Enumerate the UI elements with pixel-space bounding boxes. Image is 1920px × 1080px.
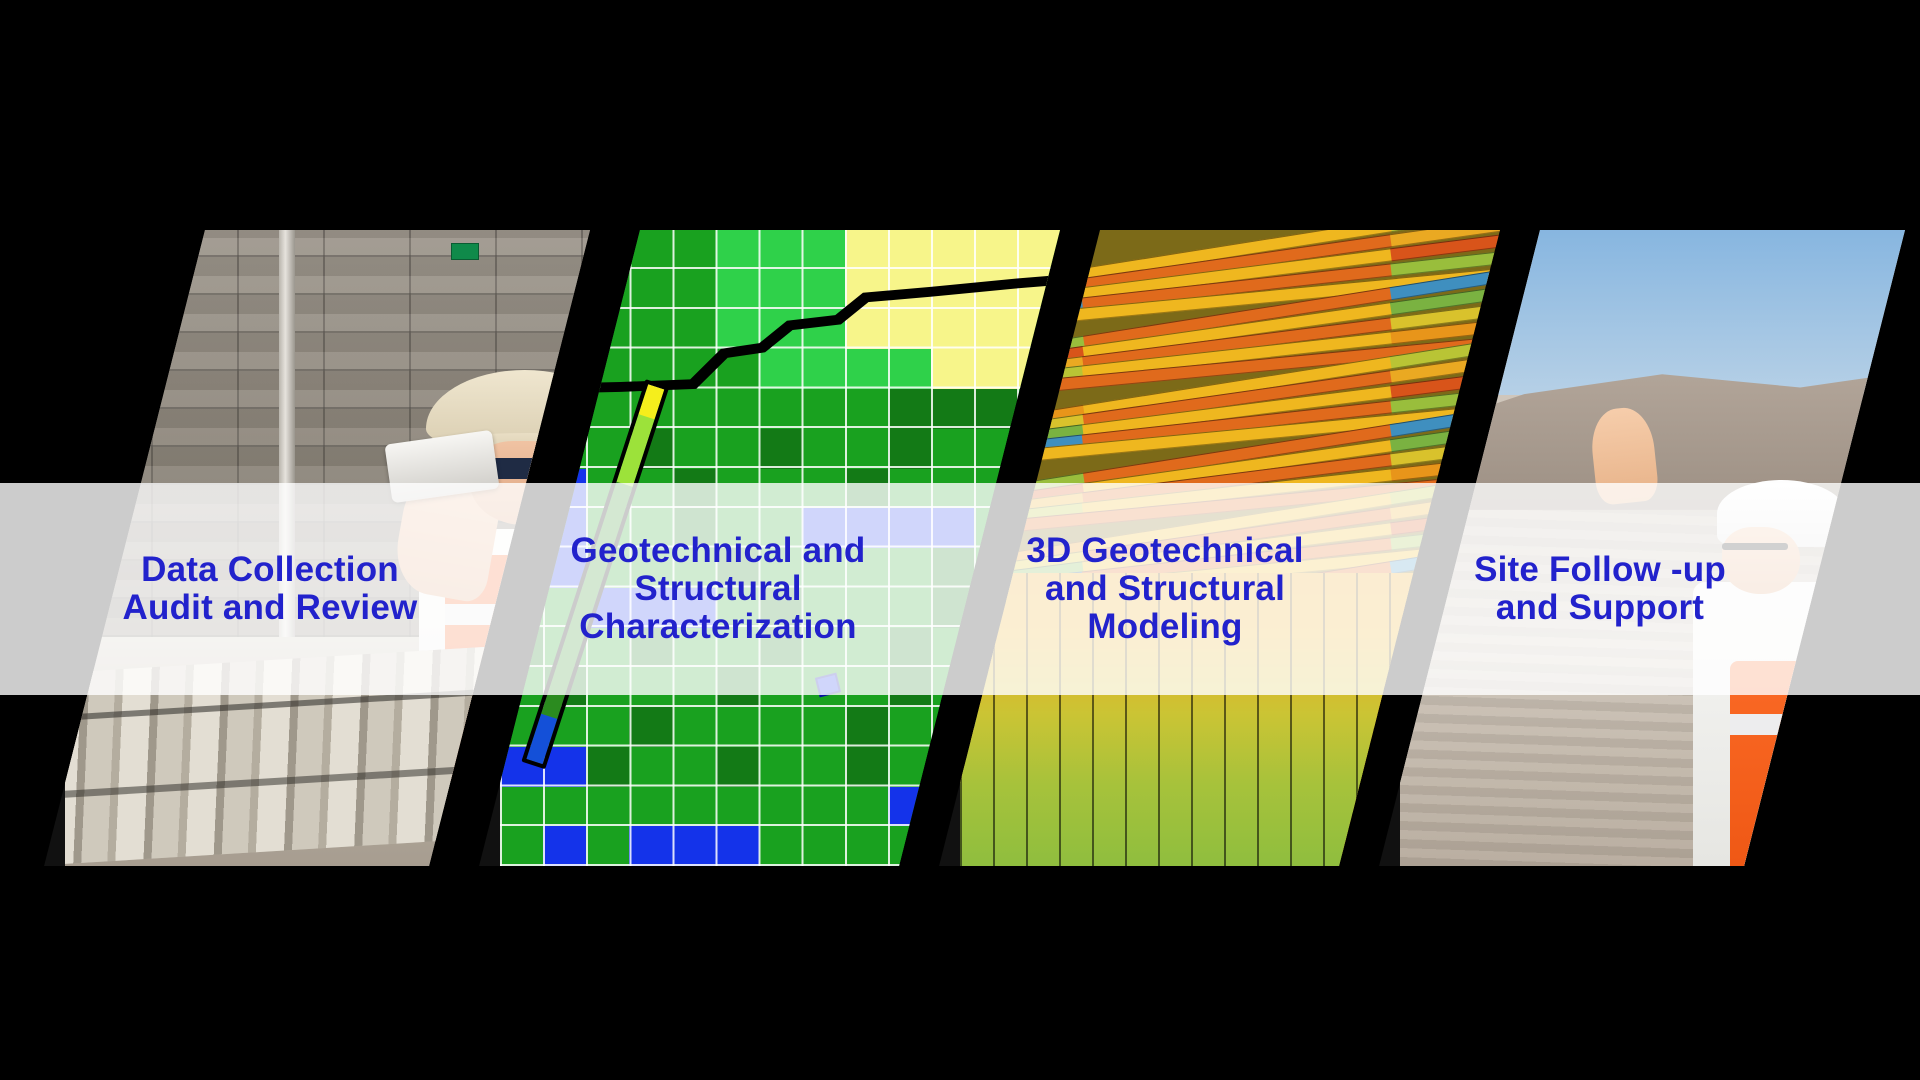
worker-hi-vis	[1876, 690, 1905, 866]
caption-3d-modeling[interactable]: 3D Geotechnical and Structural Modeling	[1020, 483, 1310, 695]
caption-geotechnical-characterization[interactable]: Geotechnical and Structural Characteriza…	[568, 483, 868, 695]
hard-hat	[1868, 488, 1905, 553]
worker-back	[1835, 484, 1905, 866]
worker-hi-vis	[1730, 661, 1867, 866]
topography-line	[500, 275, 1060, 415]
safety-glasses	[1874, 549, 1905, 556]
caption-text: 3D Geotechnical and Structural Modeling	[1026, 532, 1303, 645]
worker-face	[1876, 534, 1905, 603]
caption-site-support[interactable]: Site Follow -up and Support	[1455, 483, 1745, 695]
caption-text: Data Collection Audit and Review	[123, 551, 418, 627]
caption-data-collection[interactable]: Data Collection Audit and Review	[120, 483, 420, 695]
caption-text: Site Follow -up and Support	[1474, 551, 1726, 627]
caption-text: Geotechnical and Structural Characteriza…	[571, 532, 866, 645]
wall-sign	[451, 243, 479, 260]
worker-shirt	[1847, 599, 1905, 866]
banner-canvas: 0-1563	[0, 0, 1920, 1080]
